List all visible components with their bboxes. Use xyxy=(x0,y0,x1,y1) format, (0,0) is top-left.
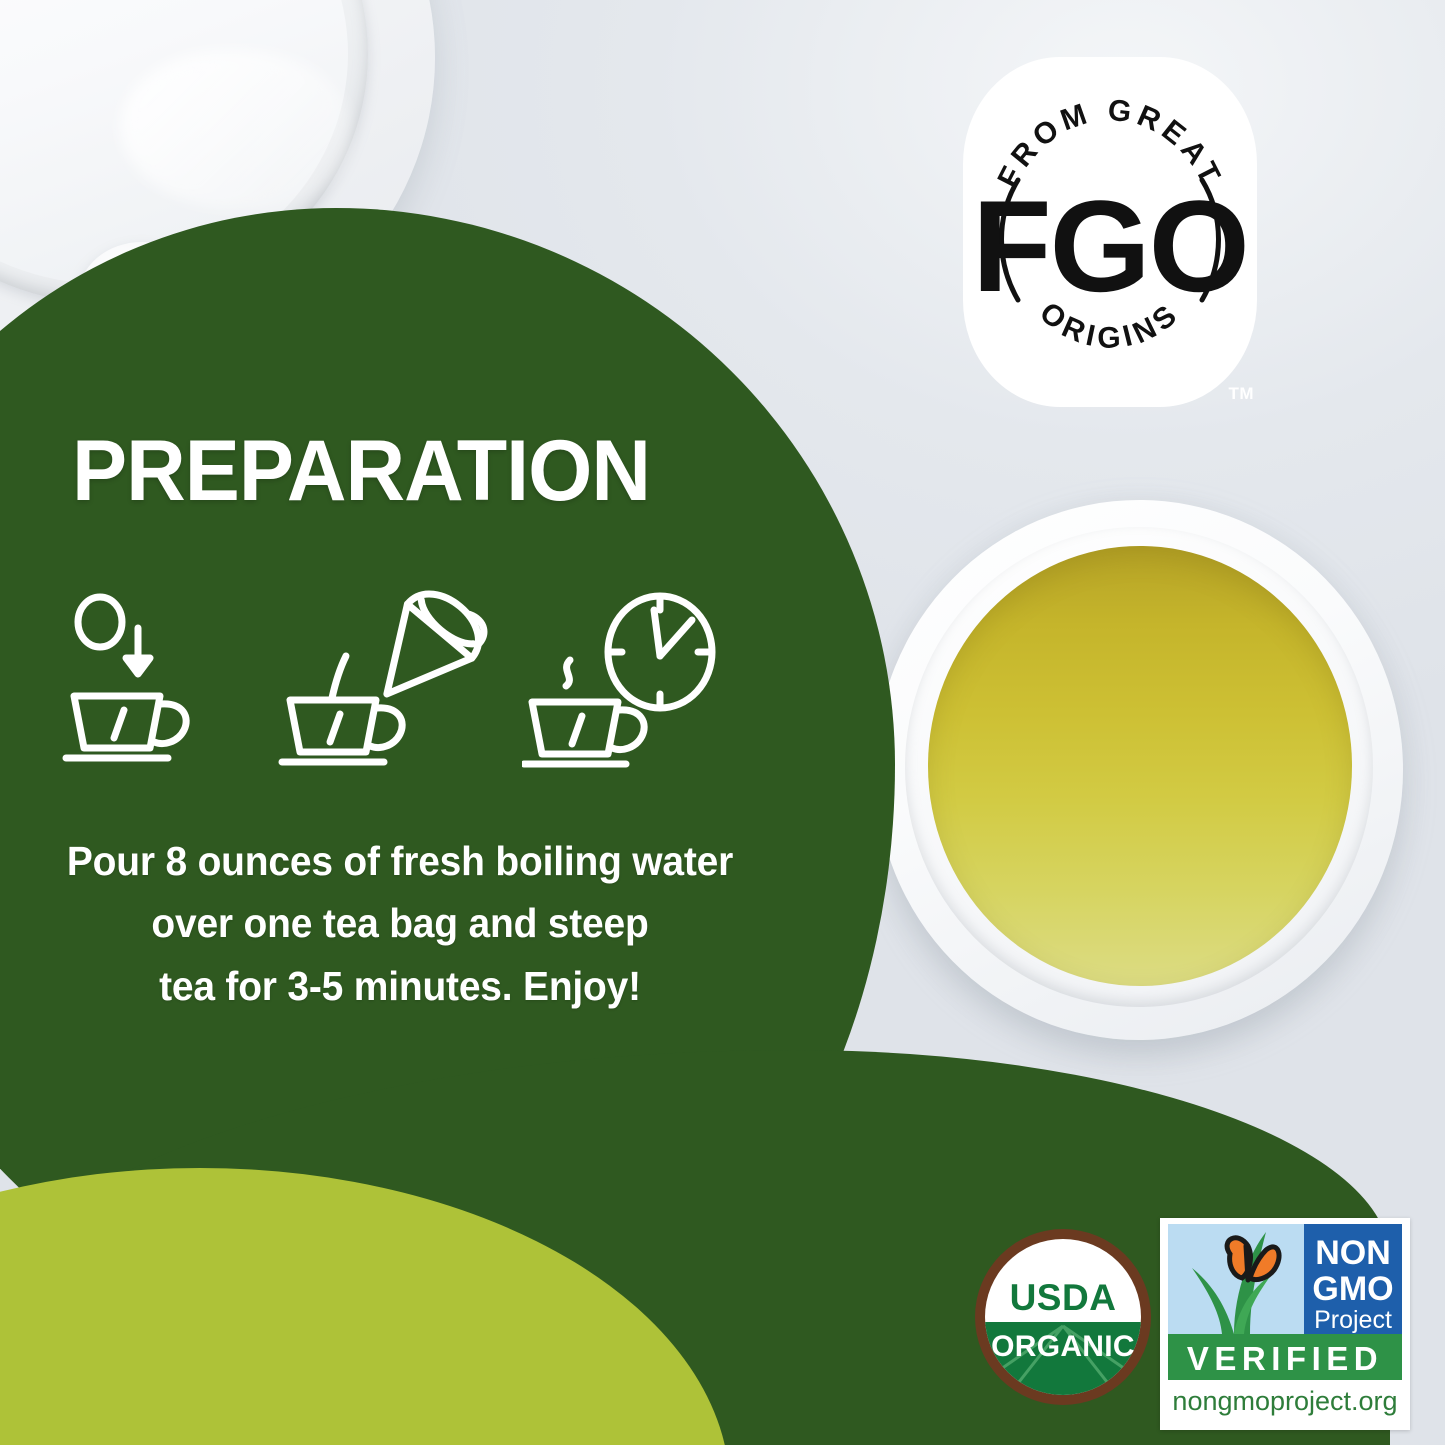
usda-bottom-text: ORGANIC xyxy=(991,1330,1135,1363)
instruction-line-3: tea for 3-5 minutes. Enjoy! xyxy=(39,955,761,1017)
tea-bag-into-cup-icon xyxy=(60,590,200,780)
usda-organic-seal: USDA ORGANIC xyxy=(972,1226,1154,1408)
non-gmo-project-verified-badge: NON GMO Project VERIFIED nongmoproject.o… xyxy=(1160,1218,1410,1430)
product-infographic: FROM GREAT FGO ORIGINS TM PREPARATION xyxy=(0,0,1445,1445)
nongmo-line-1: NON xyxy=(1315,1234,1391,1272)
nongmo-line-3: Project xyxy=(1314,1306,1392,1334)
nongmo-verified-text: VERIFIED xyxy=(1187,1340,1383,1377)
page-title: PREPARATION xyxy=(72,428,650,514)
preparation-steps xyxy=(50,590,750,790)
trademark-symbol: TM xyxy=(1228,384,1254,404)
steaming-cup-with-clock-icon xyxy=(522,590,722,780)
fgo-logo: FROM GREAT FGO ORIGINS TM xyxy=(962,56,1258,408)
nongmo-url: nongmoproject.org xyxy=(1172,1386,1397,1416)
nongmo-line-2: GMO xyxy=(1312,1270,1393,1308)
preparation-instructions: Pour 8 ounces of fresh boiling water ove… xyxy=(39,830,761,1017)
usda-top-text: USDA xyxy=(1010,1277,1117,1318)
kettle-pouring-into-cup-icon xyxy=(278,590,493,780)
instruction-line-1: Pour 8 ounces of fresh boiling water xyxy=(39,830,761,892)
fgo-monogram: FGO xyxy=(972,173,1248,319)
instruction-line-2: over one tea bag and steep xyxy=(39,892,761,954)
brewed-tea-liquid xyxy=(928,546,1352,986)
